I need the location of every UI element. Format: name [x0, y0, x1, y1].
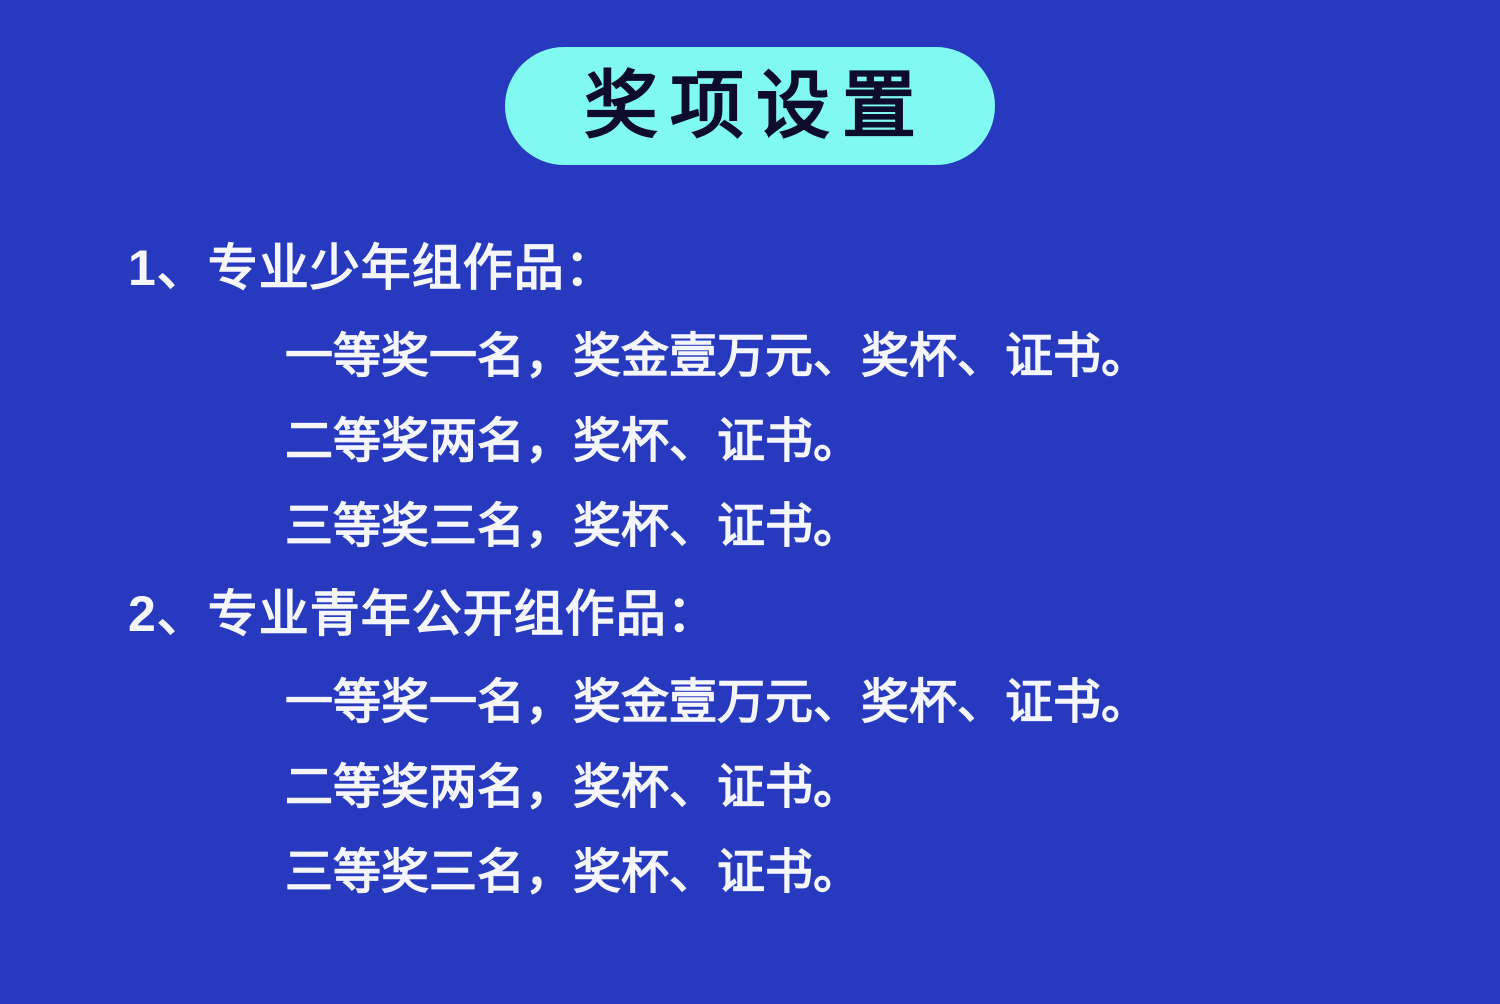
award-line-2-second-prize: 二等奖两名，奖杯、证书。: [0, 764, 1500, 812]
title-banner: 奖项设置: [0, 47, 1500, 165]
poster-canvas: 奖项设置 1、专业少年组作品： 一等奖一名，奖金壹万元、奖杯、证书。 二等奖两名…: [0, 0, 1500, 1004]
award-line-2-third-prize: 三等奖三名，奖杯、证书。: [0, 849, 1500, 897]
section-heading-1: 1、专业少年组作品：: [0, 243, 1500, 293]
spacer: [0, 639, 1500, 679]
title-pill: 奖项设置: [505, 47, 995, 165]
spacer: [0, 381, 1500, 418]
award-line-1-first-prize: 一等奖一名，奖金壹万元、奖杯、证书。: [0, 333, 1500, 381]
spacer: [0, 293, 1500, 333]
page-title: 奖项设置: [572, 69, 928, 143]
award-line-2-first-prize: 一等奖一名，奖金壹万元、奖杯、证书。: [0, 679, 1500, 727]
spacer: [0, 812, 1500, 849]
award-section-1: 1、专业少年组作品： 一等奖一名，奖金壹万元、奖杯、证书。 二等奖两名，奖杯、证…: [0, 243, 1500, 551]
section-heading-2: 2、专业青年公开组作品：: [0, 589, 1500, 639]
award-list: 1、专业少年组作品： 一等奖一名，奖金壹万元、奖杯、证书。 二等奖两名，奖杯、证…: [0, 243, 1500, 897]
spacer: [0, 727, 1500, 764]
award-section-2: 2、专业青年公开组作品： 一等奖一名，奖金壹万元、奖杯、证书。 二等奖两名，奖杯…: [0, 589, 1500, 897]
spacer: [0, 466, 1500, 503]
spacer: [0, 551, 1500, 589]
award-line-1-third-prize: 三等奖三名，奖杯、证书。: [0, 503, 1500, 551]
award-line-1-second-prize: 二等奖两名，奖杯、证书。: [0, 418, 1500, 466]
